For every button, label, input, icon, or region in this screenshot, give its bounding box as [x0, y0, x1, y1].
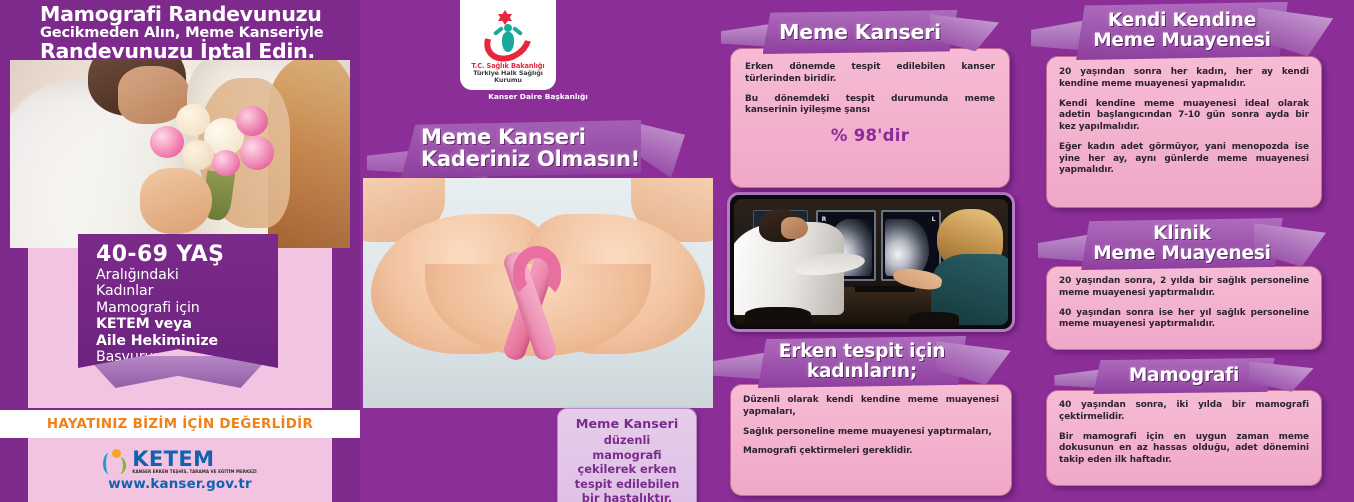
summary-line3: çekilerek erken: [566, 462, 688, 477]
card-paragraph: Bir mamografi için en uygun zaman meme d…: [1059, 432, 1309, 467]
card-paragraph: Kendi kendine meme muayenesi ideal olara…: [1059, 99, 1309, 134]
chair-left: [745, 307, 811, 325]
card-paragraph: Mamografi çektirmeleri gereklidir.: [743, 446, 999, 458]
left-headline-line1: Mamografi Randevunuzu: [40, 4, 354, 25]
ministry-line3: Kurumu: [494, 77, 522, 84]
ministry-of-health-logo-card: T.C. Sağlık Bakanlığı Türkiye Halk Sağlı…: [460, 0, 556, 90]
card-paragraph: Eğer kadın adet görmüyor, yani menopozda…: [1059, 142, 1309, 177]
star-icon: [498, 10, 512, 21]
card-paragraph: 20 yaşından sonra, 2 yılda bir sağlık pe…: [1059, 276, 1309, 300]
figure-head: [504, 24, 512, 32]
human-figure-icon: [500, 24, 516, 54]
hands-holding-pink-ribbon-photo: [363, 178, 713, 408]
ketem-green-swoosh: [113, 457, 126, 474]
header-line2: kadınların;: [807, 362, 917, 382]
ketem-logo-block: KETEM KANSER ERKEN TEŞHİS, TARAMA VE EĞİ…: [28, 438, 332, 502]
header-label: Kendi Kendine Meme Muayenesi: [1056, 2, 1308, 60]
ministry-emblem-icon: [479, 12, 537, 62]
mammogram-label-l: L: [932, 216, 936, 223]
callout-line-3: Kadınlar: [96, 283, 278, 299]
ketem-subtitle: KANSER ERKEN TEŞHİS, TARAMA VE EĞİTİM ME…: [132, 470, 257, 474]
header-label: Mamografi: [1076, 358, 1292, 394]
header-line1: Kendi Kendine: [1108, 11, 1256, 31]
keyboard-shape: [855, 286, 915, 292]
figure-body: [502, 32, 514, 52]
ketem-website-url[interactable]: www.kanser.gov.tr: [108, 477, 252, 492]
banner-text: Meme Kanseri Kaderiniz Olmasın!: [421, 126, 651, 171]
header-line2: Meme Muayenesi: [1093, 31, 1271, 51]
ketem-logo: KETEM KANSER ERKEN TEŞHİS, TARAMA VE EĞİ…: [103, 449, 257, 475]
center-summary-box: Meme Kanseri düzenli mamografi çekilerek…: [557, 408, 697, 502]
ribbon-loop: [513, 246, 561, 298]
header-line1: Klinik: [1153, 224, 1211, 244]
left-purple-margin: [0, 248, 28, 502]
ketem-figure-icon: [103, 449, 129, 475]
callout-line-6: Aile Hekiminize: [96, 333, 278, 349]
header-line2: Meme Muayenesi: [1093, 244, 1271, 264]
banner-line1: Meme Kanseri: [421, 126, 651, 148]
mammogram-image-right: [885, 219, 929, 276]
callout-line-4: Mamografi için: [96, 300, 278, 316]
card-body-kendi-kendine: 20 yaşından sonra her kadın, her ay kend…: [1046, 56, 1322, 208]
card-paragraph: Erken dönemde tespit edilebilen kanser t…: [745, 62, 995, 86]
ministry-department-caption: Kanser Daire Başkanlığı: [363, 92, 713, 101]
breast-cancer-awareness-poster: Mamografi Randevunuzu Gecikmeden Alın, M…: [0, 0, 1354, 502]
mammogram-label-r: R: [822, 216, 827, 223]
card-body-klinik: 20 yaşından sonra, 2 yılda bir sağlık pe…: [1046, 266, 1322, 350]
callout-line-5: KETEM veya: [96, 316, 278, 332]
card-paragraph: Düzenli olarak kendi kendine meme muayen…: [743, 395, 999, 419]
card-paragraph: 40 yaşından sonra ise her yıl sağlık per…: [1059, 308, 1309, 332]
doctor-and-patient-reviewing-mammogram-photo: R L: [727, 192, 1015, 332]
card-header-kendi-kendine: Kendi Kendine Meme Muayenesi: [1056, 2, 1308, 60]
callout-line-2: Aralığındaki: [96, 267, 278, 283]
card-paragraph: 20 yaşından sonra her kadın, her ay kend…: [1059, 67, 1309, 91]
summary-title: Meme Kanseri: [566, 417, 688, 433]
left-panel-header: Mamografi Randevunuzu Gecikmeden Alın, M…: [0, 0, 360, 60]
card-header-klinik: Klinik Meme Muayenesi: [1062, 218, 1302, 270]
left-brochure-panel: Mamografi Randevunuzu Gecikmeden Alın, M…: [0, 0, 360, 502]
photo-inner: R L: [734, 199, 1008, 325]
age-range-text: 40-69 YAŞ: [96, 244, 278, 267]
header-line1: Meme Kanseri: [779, 21, 941, 44]
slogan-text: HAYATINIZ BİZİM İÇİN DEĞERLİDİR: [47, 417, 313, 432]
card-body-mamografi: 40 yaşından sonra, iki yılda bir mamogra…: [1046, 390, 1322, 486]
ketem-wordmark: KETEM KANSER ERKEN TEŞHİS, TARAMA VE EĞİ…: [132, 449, 257, 474]
chair-right: [909, 312, 958, 325]
center-cover-panel: T.C. Sağlık Bakanlığı Türkiye Halk Sağlı…: [363, 0, 713, 502]
doctor-face: [781, 217, 808, 240]
center-title-banner: Meme Kanseri Kaderiniz Olmasın!: [401, 120, 663, 182]
survival-rate-highlight: % 98'dir: [745, 126, 995, 145]
right-purple-margin: [332, 248, 360, 502]
card-paragraph: Bu dönemdeki tespit durumunda meme kanse…: [745, 94, 995, 118]
header-label: Klinik Meme Muayenesi: [1062, 218, 1302, 270]
pink-awareness-ribbon-icon: [495, 250, 581, 368]
ketem-name: KETEM: [132, 449, 257, 469]
header-line1: Erken tespit için: [779, 342, 945, 362]
header-line1: Mamografi: [1129, 366, 1239, 386]
card-body-meme-kanseri: Erken dönemde tespit edilebilen kanser t…: [730, 48, 1010, 188]
card-body-erken-tespit: Düzenli olarak kendi kendine meme muayen…: [730, 384, 1012, 496]
card-header-erken-tespit: Erken tespit için kadınların;: [738, 336, 986, 388]
age-range-callout: 40-69 YAŞ Aralığındaki Kadınlar Mamograf…: [78, 234, 278, 368]
card-header-mamografi: Mamografi: [1076, 358, 1292, 394]
header-label: Erken tespit için kadınların;: [738, 336, 986, 388]
banner-line2: Kaderiniz Olmasın!: [421, 148, 651, 170]
header-label: Meme Kanseri: [744, 10, 976, 54]
summary-line5: bir hastalıktır.: [566, 491, 688, 502]
slogan-band: HAYATINIZ BİZİM İÇİN DEĞERLİDİR: [0, 410, 360, 438]
card-paragraph: Sağlık personeline meme muayenesi yaptır…: [743, 427, 999, 439]
summary-line4: tespit edilebilen: [566, 477, 688, 492]
card-paragraph: 40 yaşından sonra, iki yılda bir mamogra…: [1059, 400, 1309, 424]
summary-line1: düzenli: [566, 433, 688, 448]
summary-line2: mamografi: [566, 448, 688, 463]
card-header-meme-kanseri: Meme Kanseri: [744, 10, 976, 54]
